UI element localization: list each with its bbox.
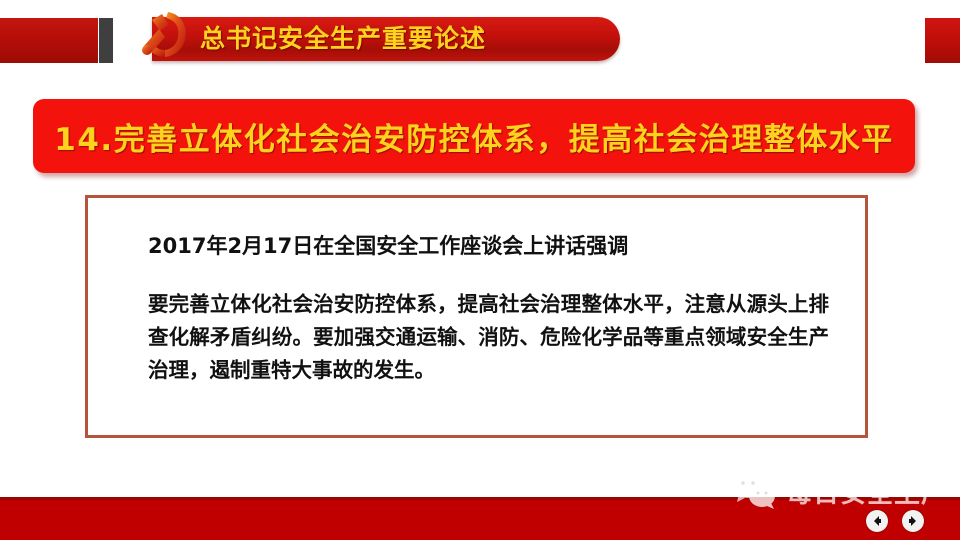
arrow-left-icon: [870, 514, 884, 528]
speech-date-line: 2017年2月17日在全国安全工作座谈会上讲话强调: [148, 231, 829, 261]
content-inner: 2017年2月17日在全国安全工作座谈会上讲话强调 要完善立体化社会治安防控体系…: [148, 231, 829, 387]
prev-slide-button[interactable]: [866, 510, 888, 532]
content-box: 2017年2月17日在全国安全工作座谈会上讲话强调 要完善立体化社会治安防控体系…: [85, 195, 868, 438]
decor-red-block-right: [925, 18, 960, 63]
party-hammer-sickle-icon: [138, 6, 190, 64]
header-banner-title: 总书记安全生产重要论述: [200, 21, 620, 57]
title-label: 完善立体化社会治安防控体系，提高社会治理整体水平: [114, 122, 894, 158]
title-number: 14.: [54, 122, 113, 158]
watermark: 每日安全生产: [732, 470, 946, 512]
next-slide-button[interactable]: [902, 510, 924, 532]
speech-body-text: 要完善立体化社会治安防控体系，提高社会治理整体水平，注意从源头上排查化解矛盾纠纷…: [148, 288, 829, 387]
watermark-text: 每日安全生产: [786, 473, 948, 510]
decor-gray-bar: [99, 18, 113, 63]
slide-root: 总书记安全生产重要论述 14.完善立体化社会治安防控体系，提高社会治理整体水平 …: [0, 0, 960, 540]
page-title: 14.完善立体化社会治安防控体系，提高社会治理整体水平: [40, 114, 907, 159]
wechat-icon: [732, 472, 778, 510]
nav-buttons[interactable]: [866, 510, 924, 532]
decor-red-block-left: [0, 18, 98, 63]
slide-title-bar: 14.完善立体化社会治安防控体系，提高社会治理整体水平: [33, 99, 915, 173]
arrow-right-icon: [906, 514, 920, 528]
